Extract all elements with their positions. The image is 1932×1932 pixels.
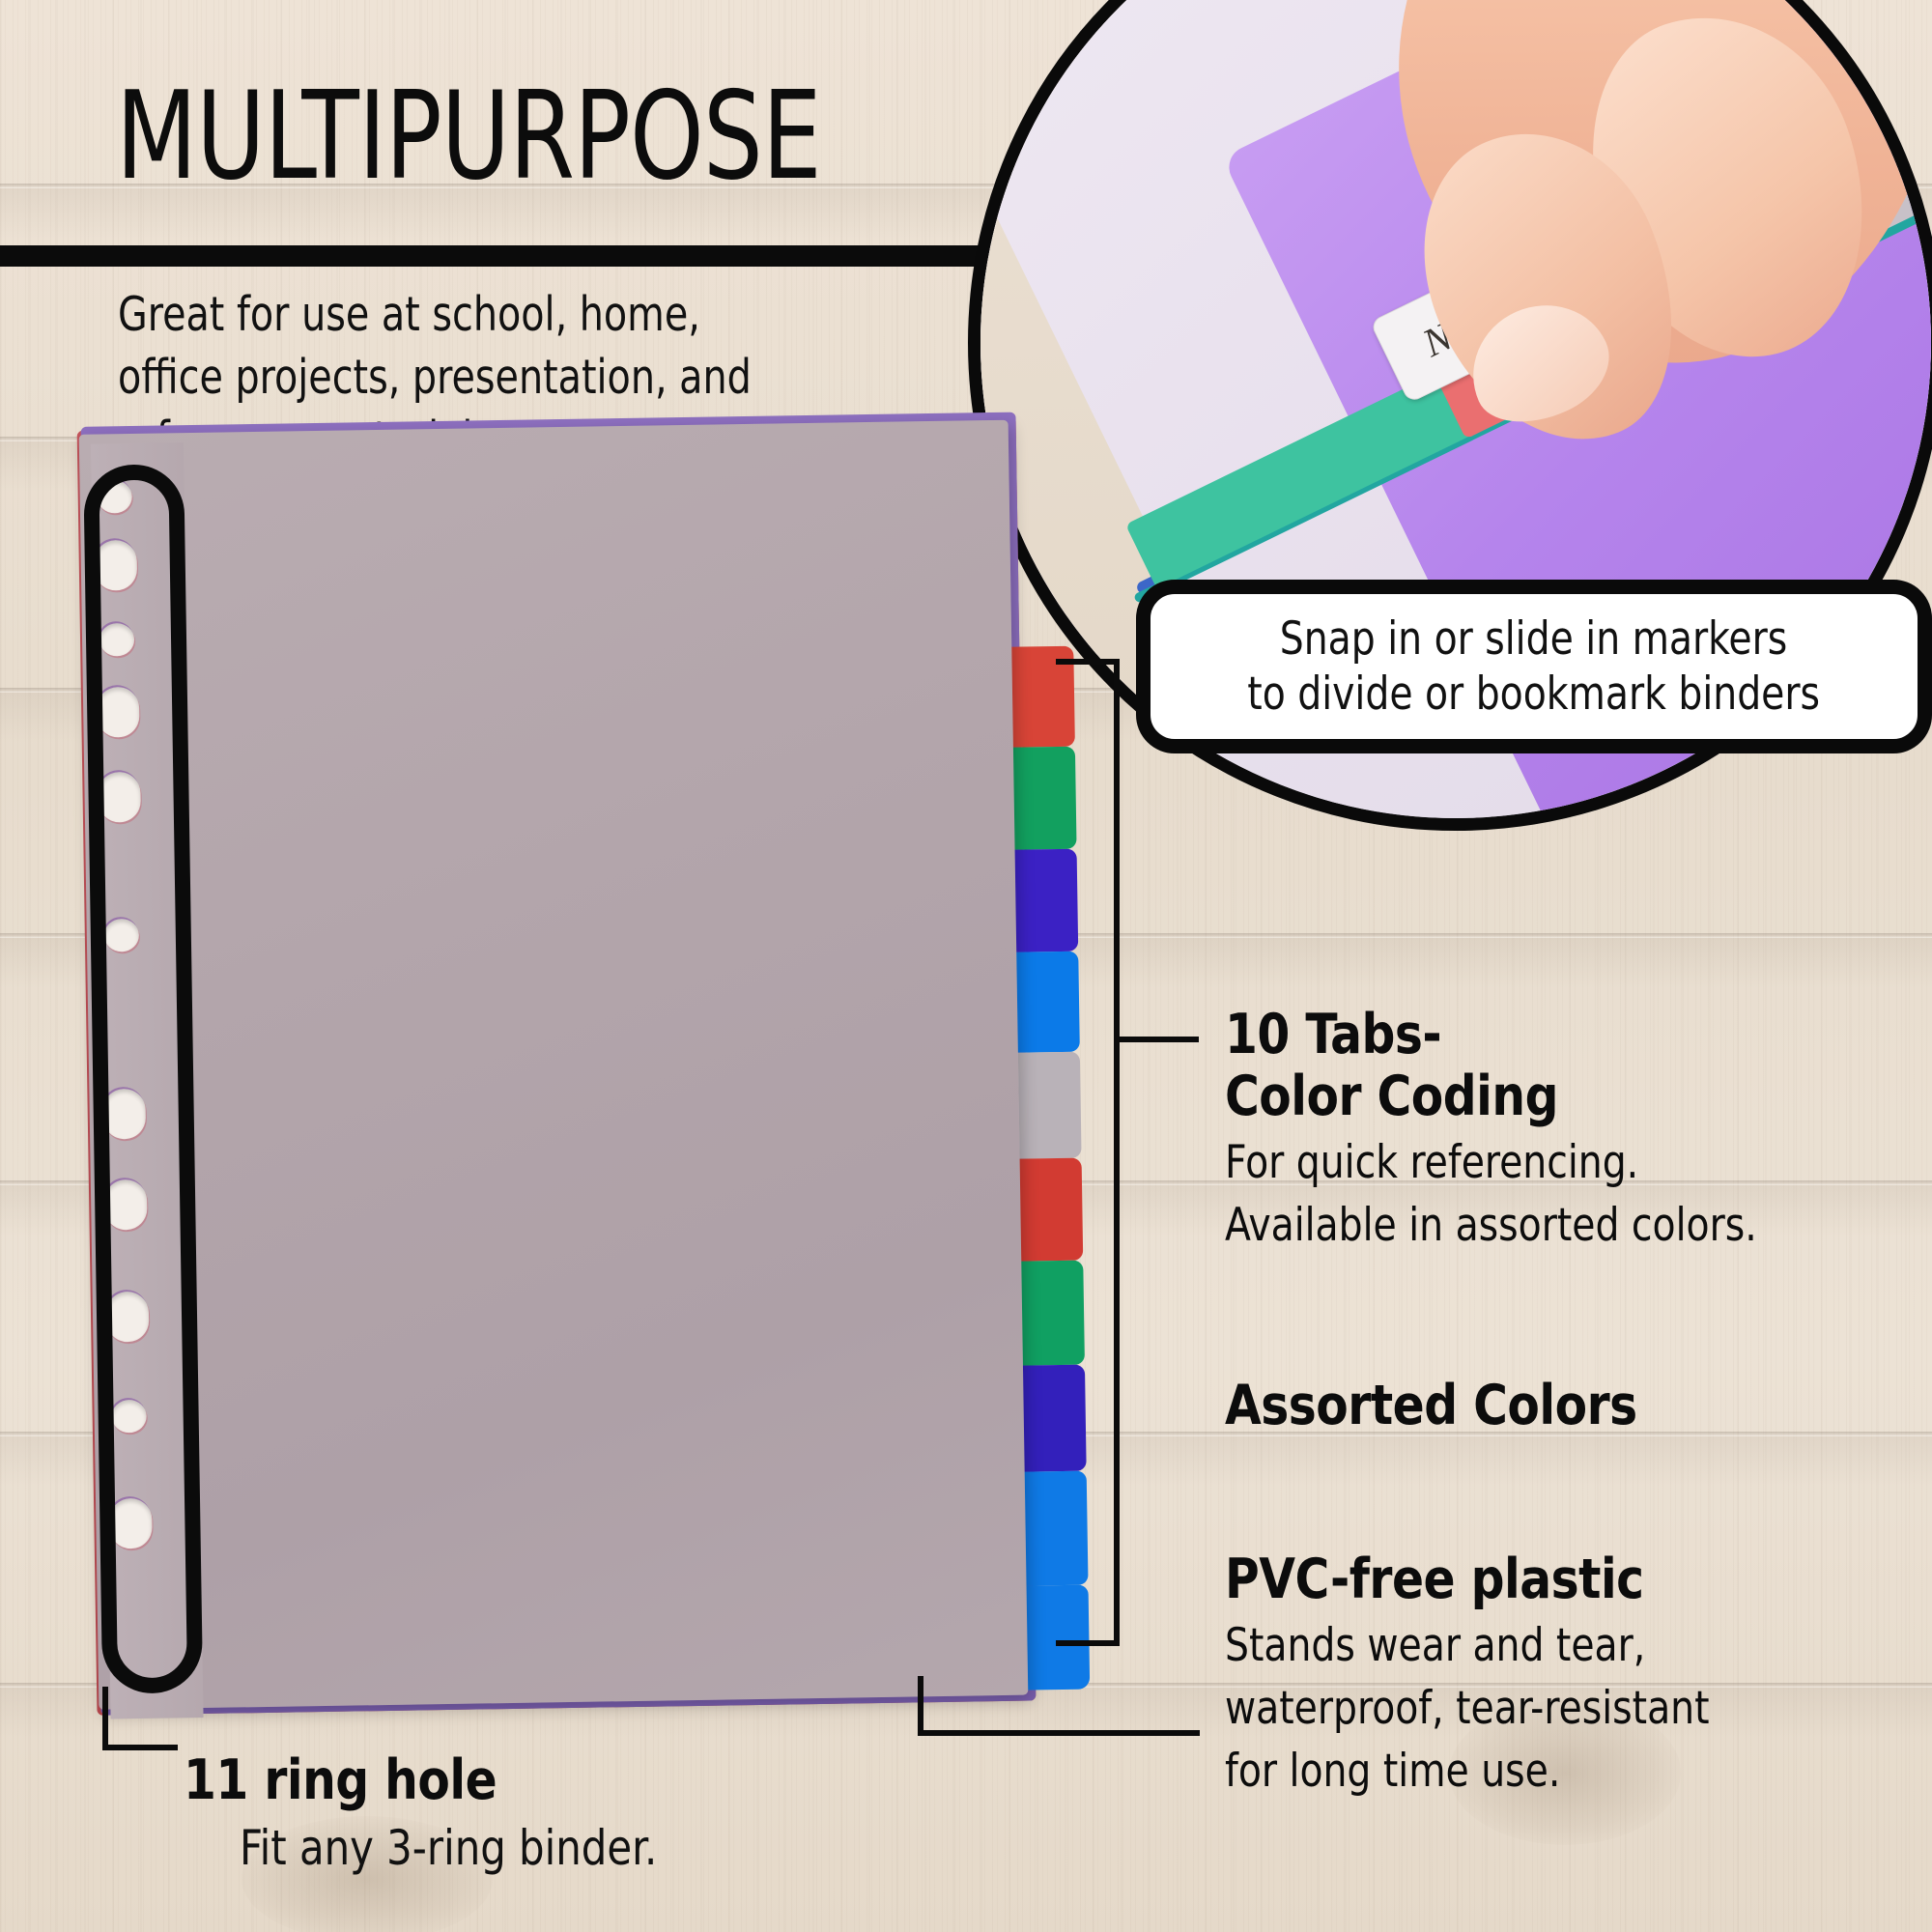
infographic-canvas: MULTIPURPOSE Great for use at school, ho…	[0, 0, 1932, 1932]
feature-title-line: Color Coding	[1225, 1066, 1769, 1128]
pvc-leader-horizontal	[918, 1730, 1200, 1736]
page-title: MULTIPURPOSE	[116, 75, 821, 197]
subtitle-line: Great for use at school, home,	[118, 284, 831, 347]
feature-title-line: PVC-free plastic	[1225, 1549, 1719, 1611]
feature-title-line: 10 Tabs-	[1225, 1005, 1769, 1066]
callout-line: to divide or bookmark binders	[1248, 667, 1821, 722]
divider-sheet-front	[79, 420, 1029, 1710]
divider-sheet-photo	[70, 410, 1065, 1719]
ring-hole-caption-title: 11 ring hole	[184, 1748, 497, 1812]
feature-pvc-free: PVC-free plastic Stands wear and tear, w…	[1225, 1549, 1746, 1800]
callout-line: Snap in or slide in markers	[1280, 611, 1787, 667]
title-underline-bar	[0, 245, 1055, 267]
tab-bracket-stub	[1116, 1037, 1199, 1042]
feature-color-coding: 10 Tabs- Color Coding For quick referenc…	[1225, 1005, 1797, 1254]
feature-body-line: waterproof, tear-resistant	[1225, 1680, 1710, 1737]
tab-bracket-vertical	[1114, 659, 1120, 1646]
ring-leader-horizontal	[102, 1745, 178, 1750]
feature-body-line: Stands wear and tear,	[1225, 1617, 1710, 1674]
tab-bracket-bottom	[1056, 1640, 1116, 1646]
subtitle-line: office projects, presentation, and	[118, 347, 831, 410]
feature-title-line: Assorted Colors	[1225, 1376, 1637, 1437]
tab-bracket-top	[1056, 659, 1116, 665]
pvc-leader-vertical	[918, 1676, 923, 1736]
ring-leader-vertical	[102, 1687, 108, 1750]
inset-caption-callout: Snap in or slide in markers to divide or…	[1136, 580, 1932, 753]
feature-body-line: for long time use.	[1225, 1743, 1710, 1800]
feature-assorted-colors: Assorted Colors	[1225, 1376, 1659, 1437]
feature-body-line: Available in assorted colors.	[1225, 1197, 1757, 1254]
ring-hole-highlight-outline	[83, 464, 203, 1693]
feature-body-line: For quick referencing.	[1225, 1134, 1757, 1191]
ring-hole-caption-subtitle: Fit any 3-ring binder.	[240, 1820, 657, 1876]
